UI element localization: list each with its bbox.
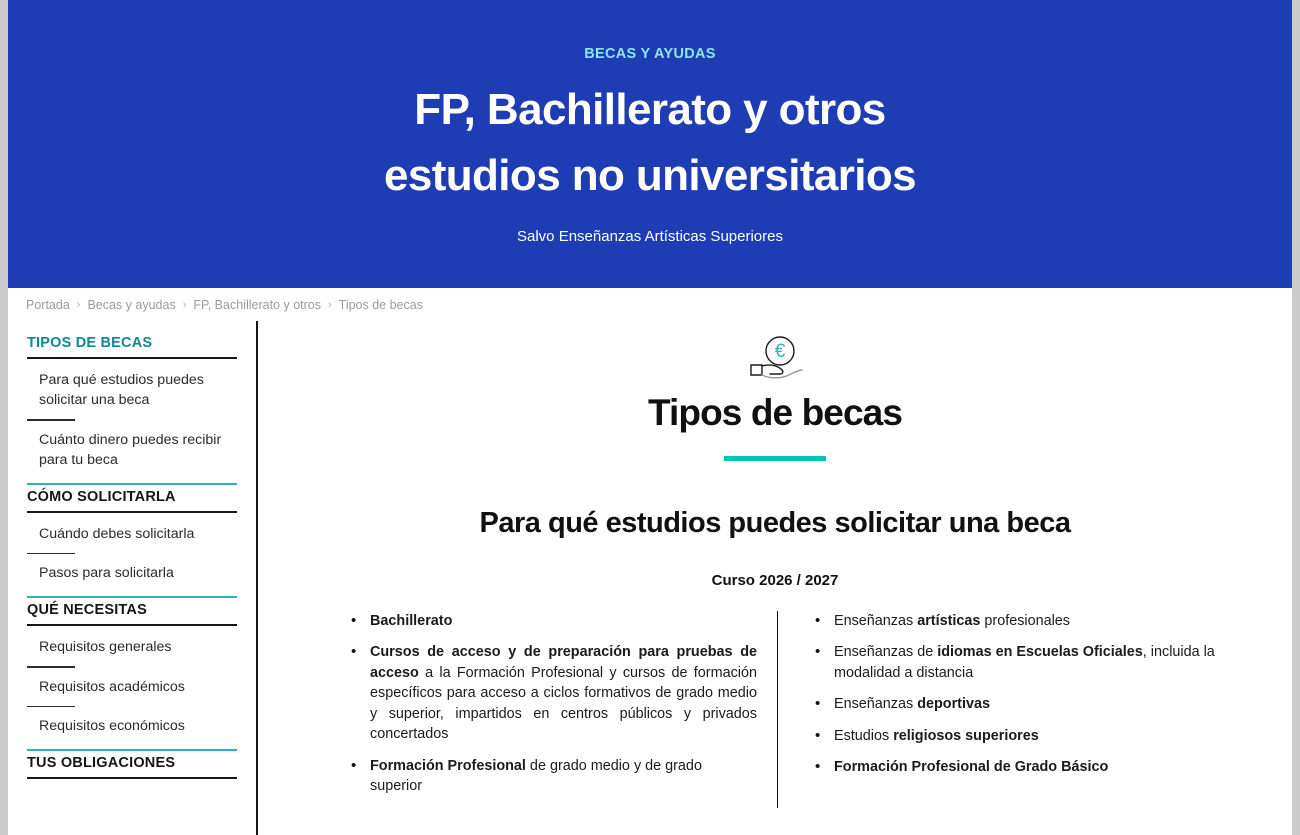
sidebar-item-requisitos-economicos[interactable]: Requisitos económicos [27, 707, 237, 745]
list-item: Formación Profesional de Grado Básico [834, 757, 1268, 777]
sidebar-item-cuanto-dinero[interactable]: Cuánto dinero puedes recibir para tu bec… [27, 421, 237, 479]
list-item: Enseñanzas artísticas profesionales [834, 611, 1268, 631]
hero-title-line-1: FP, Bachillerato y otros [128, 77, 1172, 142]
list-item-pre: Enseñanzas [834, 696, 917, 712]
sidebar-navigation: TIPOS DE BECAS Para qué estudios puedes … [8, 321, 258, 835]
sidebar-item-cuando-debes-solicitarla[interactable]: Cuándo debes solicitarla [27, 515, 237, 553]
hero-subtitle: Salvo Enseñanzas Artísticas Superiores [8, 228, 1292, 245]
page-title: Tipos de becas [258, 392, 1292, 434]
list-item-bold: Bachillerato [370, 613, 452, 629]
list-item: Enseñanzas de idiomas en Escuelas Oficia… [834, 642, 1268, 683]
section-title: Para qué estudios puedes solicitar una b… [258, 507, 1292, 540]
section-subtitle-curso: Curso 2026 / 2027 [258, 572, 1292, 589]
sidebar-item-pasos-para-solicitarla[interactable]: Pasos para solicitarla [27, 554, 237, 592]
svg-text:€: € [775, 341, 786, 362]
hero-eyebrow: BECAS Y AYUDAS [8, 46, 1292, 63]
list-item-pre: Estudios [834, 728, 893, 744]
list-item-bold: religiosos superiores [893, 728, 1039, 744]
right-bullet-list: Enseñanzas artísticas profesionales Ense… [812, 611, 1268, 778]
list-item-pre: Enseñanzas de [834, 644, 937, 660]
breadcrumb-item-tipos-de-becas[interactable]: Tipos de becas [339, 298, 423, 312]
body-wrapper: TIPOS DE BECAS Para qué estudios puedes … [8, 321, 1292, 835]
list-item-bold: artísticas [917, 613, 980, 629]
breadcrumb: Portada › Becas y ayudas › FP, Bachiller… [8, 288, 1292, 321]
list-item-bold: deportivas [917, 696, 990, 712]
sidebar-item-para-que-estudios[interactable]: Para qué estudios puedes solicitar una b… [27, 361, 237, 419]
list-item-bold: Formación Profesional [370, 758, 526, 774]
sidebar-item-requisitos-generales[interactable]: Requisitos generales [27, 628, 237, 666]
sidebar-heading-tus-obligaciones[interactable]: TUS OBLIGACIONES [27, 751, 237, 779]
right-column: Enseñanzas artísticas profesionales Ense… [778, 611, 1268, 808]
left-column: Bachillerato Cursos de acceso y de prepa… [348, 611, 778, 808]
breadcrumb-separator-icon: › [328, 299, 332, 311]
breadcrumb-separator-icon: › [77, 299, 81, 311]
hero-title-line-2: estudios no universitarios [128, 143, 1172, 208]
sidebar-item-requisitos-academicos[interactable]: Requisitos académicos [27, 668, 237, 706]
breadcrumb-item-becas-y-ayudas[interactable]: Becas y ayudas [87, 298, 175, 312]
left-bullet-list: Bachillerato Cursos de acceso y de prepa… [348, 611, 757, 797]
list-item: Enseñanzas deportivas [834, 694, 1268, 714]
sidebar-heading-que-necesitas[interactable]: QUÉ NECESITAS [27, 598, 237, 626]
list-item-pre: Enseñanzas [834, 613, 917, 629]
title-underline-rule [724, 456, 826, 461]
page-container: BECAS Y AYUDAS FP, Bachillerato y otros … [8, 0, 1292, 835]
two-column-lists: Bachillerato Cursos de acceso y de prepa… [258, 611, 1292, 808]
hero-banner: BECAS Y AYUDAS FP, Bachillerato y otros … [8, 0, 1292, 288]
list-item-rest: a la Formación Profesional y cursos de f… [370, 665, 757, 742]
breadcrumb-separator-icon: › [183, 299, 187, 311]
list-item: Estudios religiosos superiores [834, 726, 1268, 746]
hero-title: FP, Bachillerato y otros estudios no uni… [8, 77, 1292, 207]
hand-holding-euro-coin-icon: € [747, 335, 803, 383]
list-item: Bachillerato [370, 611, 757, 631]
list-item-bold: idiomas en Escuelas Oficiales [937, 644, 1143, 660]
list-item: Formación Profesional de grado medio y d… [370, 756, 757, 797]
list-item-bold: Formación Profesional de Grado Básico [834, 759, 1108, 775]
breadcrumb-item-fp-bachillerato[interactable]: FP, Bachillerato y otros [193, 298, 321, 312]
breadcrumb-item-portada[interactable]: Portada [26, 298, 70, 312]
list-item: Cursos de acceso y de preparación para p… [370, 642, 757, 744]
sidebar-heading-como-solicitarla[interactable]: CÓMO SOLICITARLA [27, 485, 237, 513]
list-item-rest: profesionales [980, 613, 1070, 629]
sidebar-heading-tipos-de-becas[interactable]: TIPOS DE BECAS [27, 331, 237, 359]
page-icon-wrapper: € [258, 335, 1292, 388]
main-content: € Tipos de becas Para qué estudios puede… [258, 321, 1292, 835]
